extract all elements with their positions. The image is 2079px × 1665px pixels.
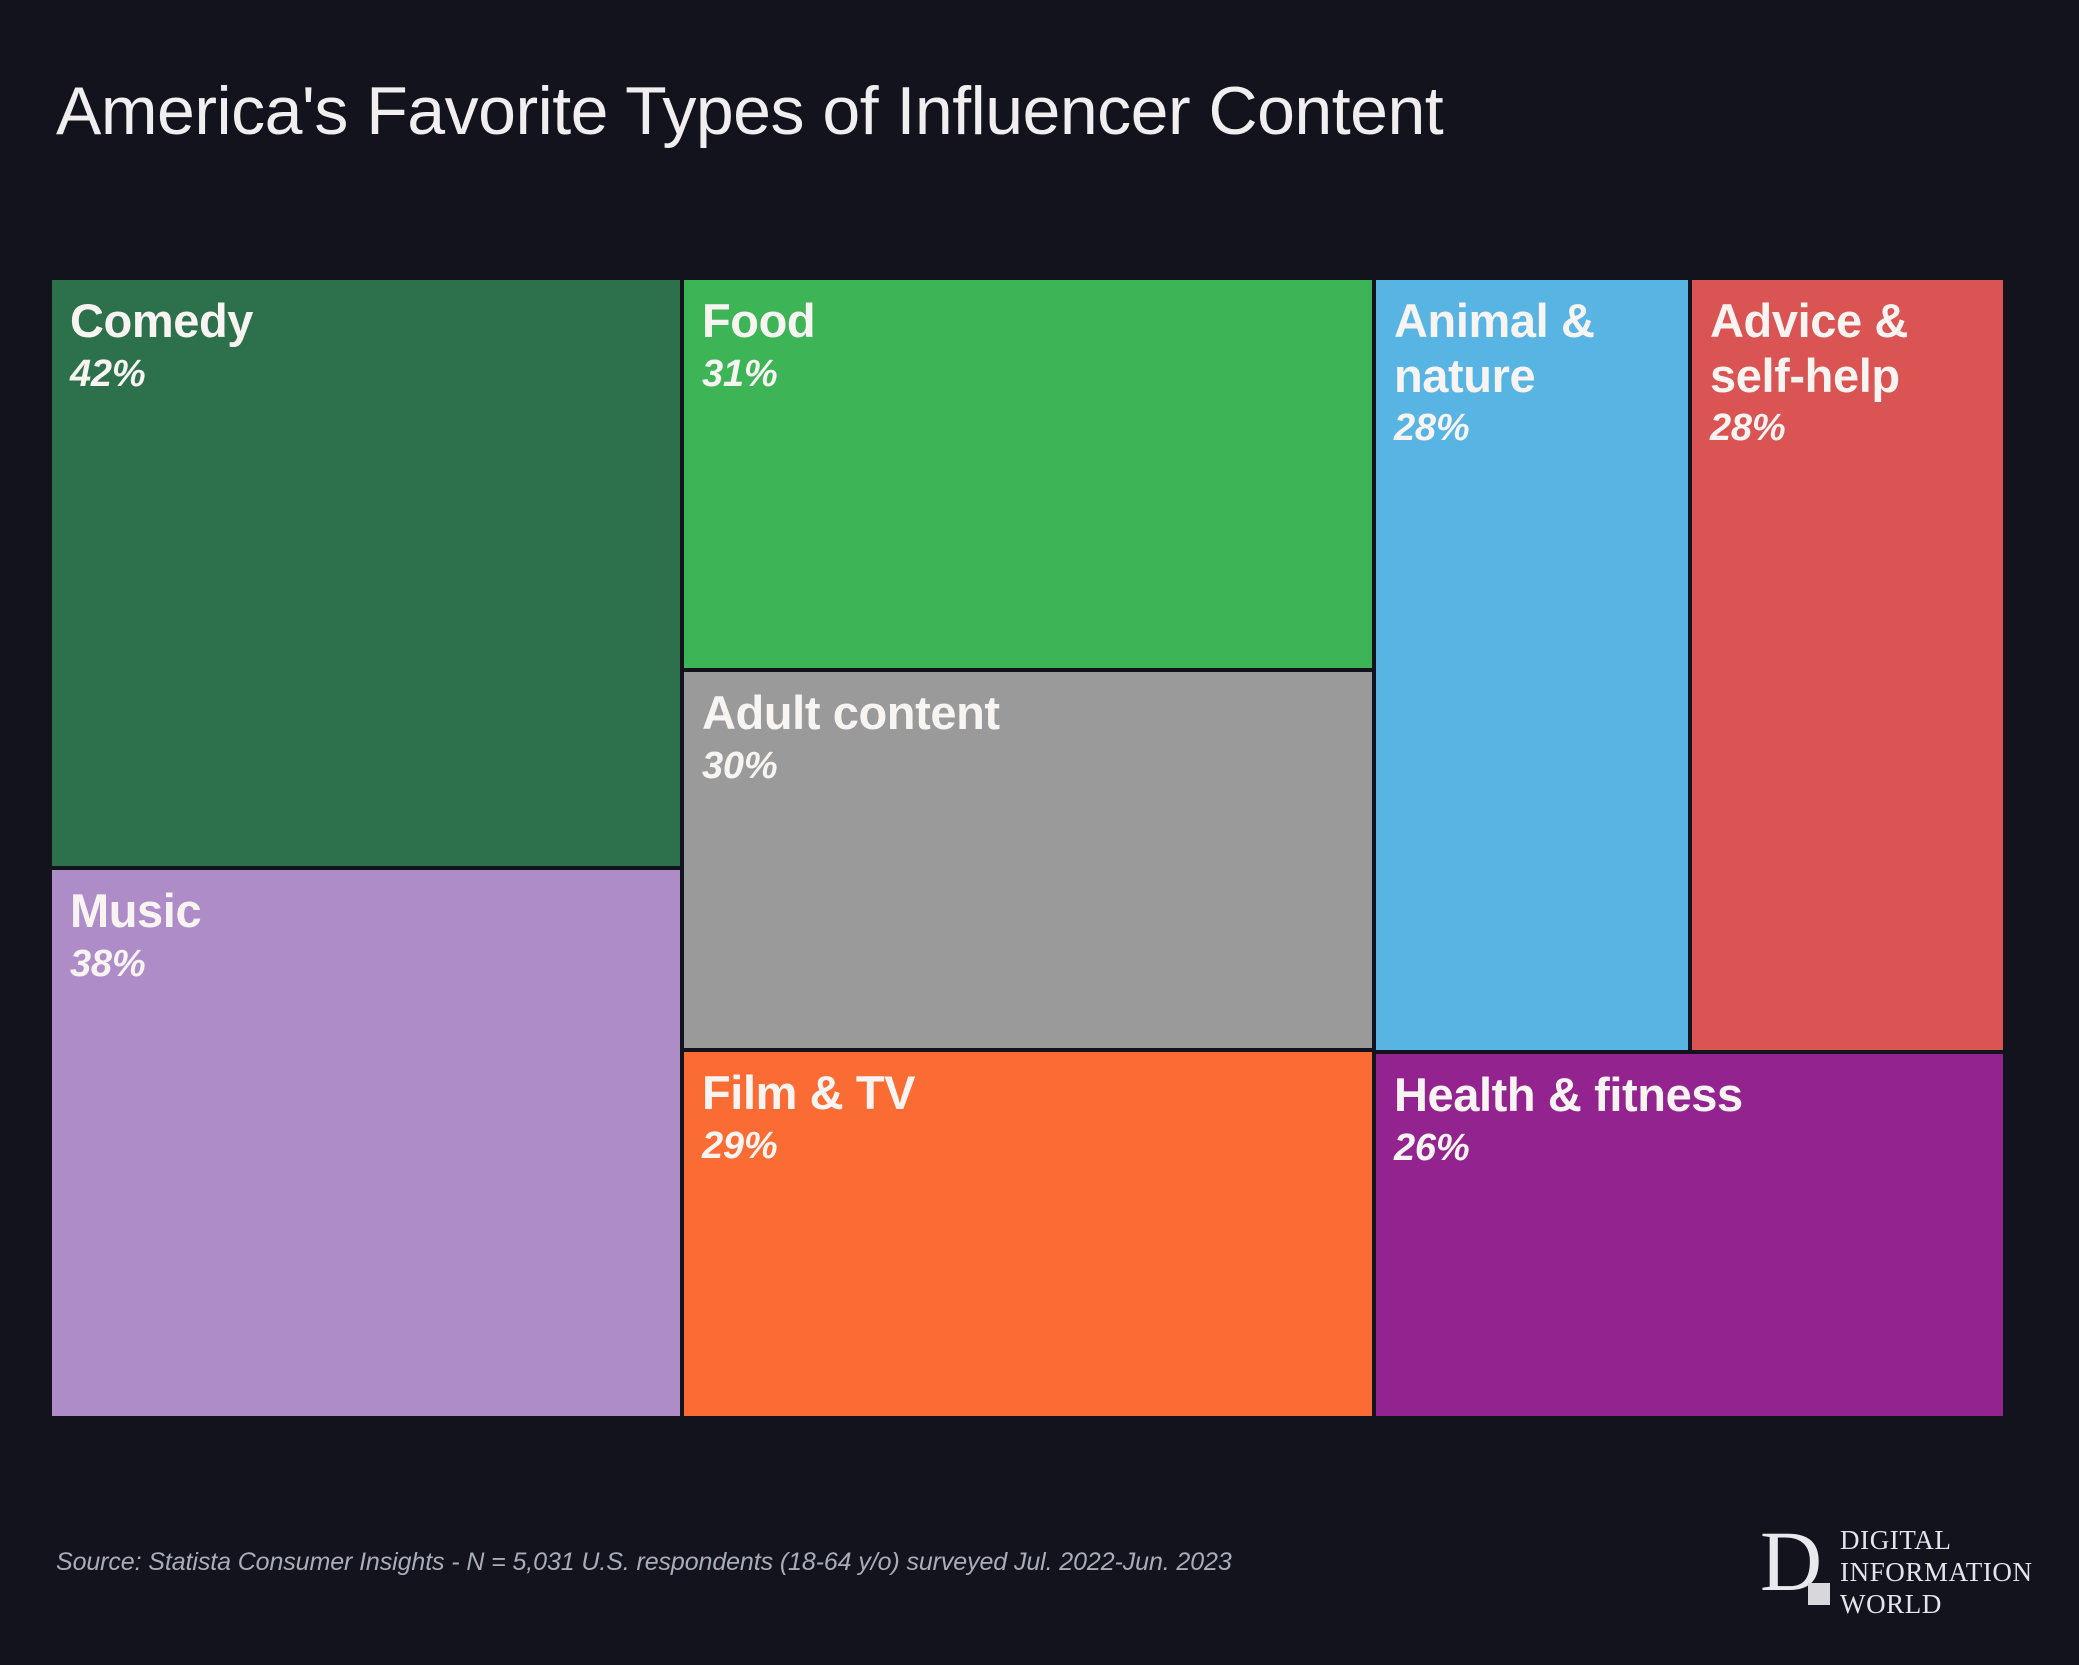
brand-line-1: DIGITAL — [1840, 1525, 2033, 1557]
page-title: America's Favorite Types of Influencer C… — [56, 74, 2016, 149]
treemap-cell-label: Music — [70, 884, 662, 939]
brand-logo: D DIGITAL INFORMATION WORLD — [1760, 1519, 2033, 1619]
treemap-chart: Comedy 42% Music 38% Food 31% Adult cont… — [50, 278, 2005, 1418]
brand-wordmark: DIGITAL INFORMATION WORLD — [1840, 1519, 2033, 1621]
treemap-cell-comedy[interactable]: Comedy 42% — [50, 278, 682, 868]
treemap-cell-advice-and-self-help[interactable]: Advice & self-help 28% — [1690, 278, 2005, 1052]
brand-square-icon — [1808, 1583, 1830, 1605]
treemap-cell-label: Food — [702, 294, 1354, 349]
treemap-cell-label: Advice & self-help — [1710, 294, 1985, 403]
treemap-cell-label: Film & TV — [702, 1066, 1354, 1121]
treemap-cell-health-and-fitness[interactable]: Health & fitness 26% — [1374, 1052, 2005, 1418]
treemap-cell-value: 38% — [70, 941, 662, 989]
treemap-cell-value: 29% — [702, 1123, 1354, 1171]
treemap-cell-label: Adult content — [702, 686, 1354, 741]
treemap-cell-value: 28% — [1710, 405, 1985, 453]
treemap-cell-animal-and-nature[interactable]: Animal & nature 28% — [1374, 278, 1690, 1052]
treemap-cell-value: 31% — [702, 351, 1354, 399]
treemap-cell-label: Animal & nature — [1394, 294, 1670, 403]
treemap-cell-value: 28% — [1394, 405, 1670, 453]
treemap-cell-value: 42% — [70, 351, 662, 399]
source-note: Source: Statista Consumer Insights - N =… — [56, 1548, 1232, 1577]
treemap-cell-label: Health & fitness — [1394, 1068, 1985, 1123]
treemap-cell-music[interactable]: Music 38% — [50, 868, 682, 1418]
treemap-cell-food[interactable]: Food 31% — [682, 278, 1374, 670]
treemap-cell-value: 26% — [1394, 1125, 1985, 1173]
treemap-cell-film-and-tv[interactable]: Film & TV 29% — [682, 1050, 1374, 1418]
brand-mark-icon: D — [1760, 1519, 1828, 1611]
treemap-cell-label: Comedy — [70, 294, 662, 349]
treemap-cell-adult-content[interactable]: Adult content 30% — [682, 670, 1374, 1050]
brand-line-2: INFORMATION — [1840, 1557, 2033, 1589]
brand-line-3: WORLD — [1840, 1589, 2033, 1621]
treemap-cell-value: 30% — [702, 743, 1354, 791]
